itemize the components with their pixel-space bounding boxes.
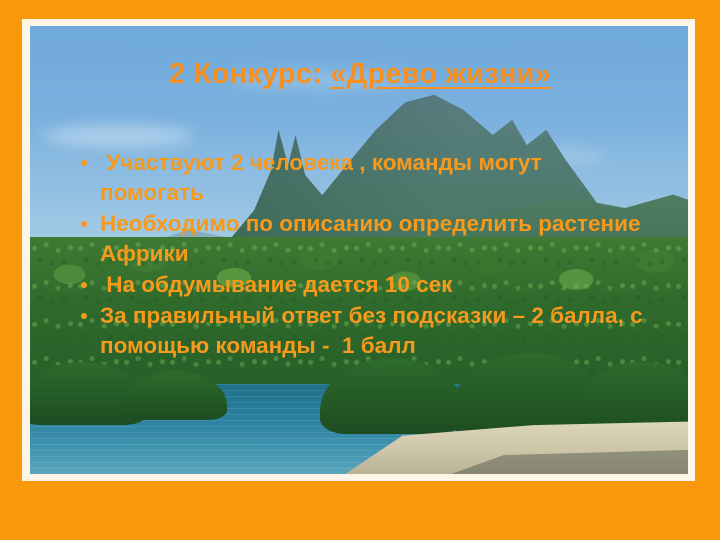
title-underlined-part: «Древо жизни» bbox=[330, 58, 551, 90]
title-plain-part: 2 Конкурс: bbox=[169, 58, 330, 90]
list-item: Необходимо по описанию определить растен… bbox=[72, 209, 652, 269]
list-item-text: Необходимо по описанию определить растен… bbox=[100, 209, 652, 269]
slide: 2 Конкурс: «Древо жизни» Участвуют 2 чел… bbox=[0, 0, 720, 540]
list-item-text: Участвуют 2 человека , команды могут пом… bbox=[100, 148, 652, 208]
bullet-list: Участвуют 2 человека , команды могут пом… bbox=[72, 148, 652, 362]
list-item-text: На обдумывание дается 10 сек bbox=[100, 270, 652, 300]
bullet-dot-icon bbox=[81, 313, 87, 319]
slide-title: 2 Конкурс: «Древо жизни» bbox=[0, 58, 720, 91]
bullet-dot-icon bbox=[81, 160, 87, 166]
list-item-text: За правильный ответ без подсказки – 2 ба… bbox=[100, 301, 652, 361]
text-layer: 2 Конкурс: «Древо жизни» Участвуют 2 чел… bbox=[0, 0, 720, 540]
list-item: За правильный ответ без подсказки – 2 ба… bbox=[72, 301, 652, 361]
list-item: На обдумывание дается 10 сек bbox=[72, 270, 652, 300]
bullet-dot-icon bbox=[81, 221, 87, 227]
bullet-dot-icon bbox=[81, 282, 87, 288]
list-item: Участвуют 2 человека , команды могут пом… bbox=[72, 148, 652, 208]
